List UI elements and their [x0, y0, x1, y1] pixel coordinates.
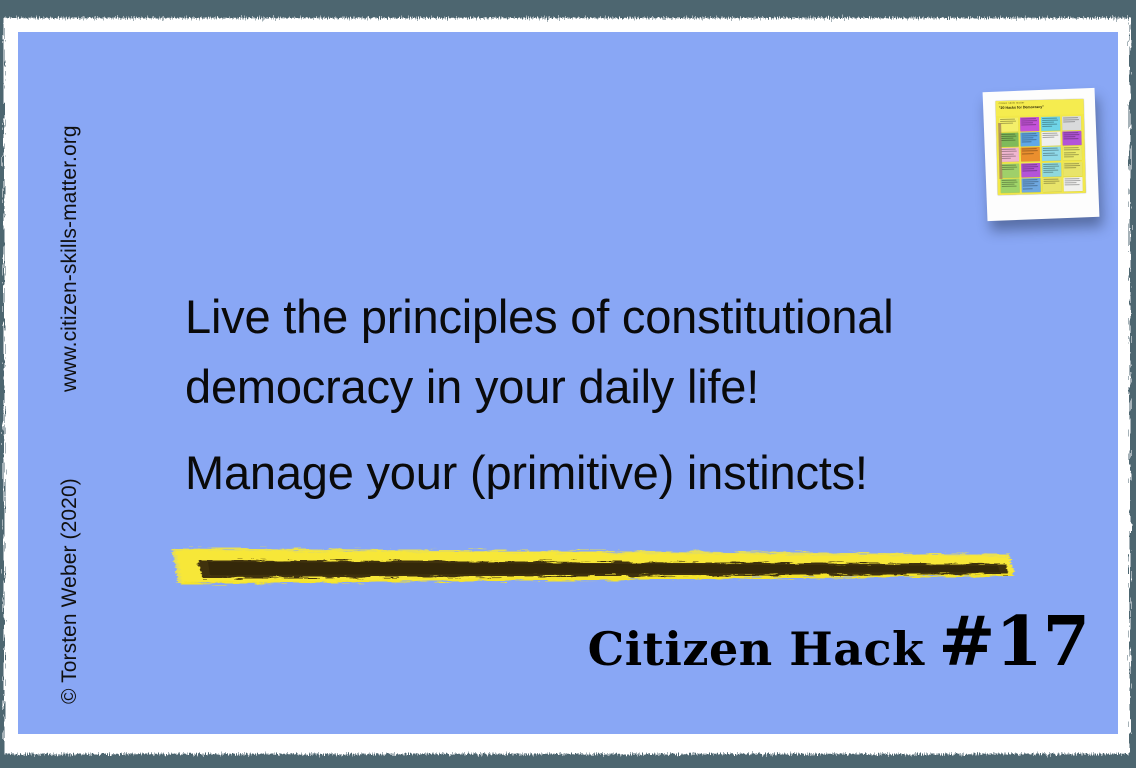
sticky-note	[1063, 162, 1083, 176]
sticky-note	[1042, 178, 1062, 192]
poster-thumbnail-card[interactable]: citizen skills matter "20 Hacks for Demo…	[983, 88, 1100, 221]
sticky-note	[1021, 178, 1041, 192]
sticky-note	[1000, 163, 1020, 177]
headline-number: #17	[938, 602, 1090, 682]
message-block: Live the principles of constitutional de…	[185, 282, 1005, 508]
sticky-note	[999, 117, 1019, 131]
message-line-3: Manage your (primitive) instincts!	[185, 438, 1005, 508]
credits-column: www.citizen-skills-matter.org © Torsten …	[18, 32, 80, 734]
sticky-note	[1021, 147, 1041, 161]
sticky-note	[1020, 132, 1040, 146]
sticky-note	[1041, 132, 1061, 146]
poster-image: citizen skills matter "20 Hacks for Demo…	[996, 99, 1086, 195]
sticky-note	[1042, 162, 1062, 176]
message-line-1: Live the principles of constitutional	[185, 282, 1005, 352]
sticky-note	[1000, 179, 1020, 193]
poster-sticky-grid	[996, 114, 1086, 195]
sticky-note	[1041, 116, 1061, 130]
slide-body: www.citizen-skills-matter.org © Torsten …	[18, 32, 1118, 734]
highlighter-stroke	[168, 528, 1016, 594]
website-credit: www.citizen-skills-matter.org	[58, 125, 82, 392]
sticky-note	[1021, 163, 1041, 177]
sticky-note	[1000, 148, 1020, 162]
author-credit: © Torsten Weber (2020)	[58, 478, 82, 704]
sticky-note	[1020, 117, 1040, 131]
message-line-2: democracy in your daily life!	[185, 352, 1005, 422]
sticky-note	[1062, 131, 1082, 145]
sticky-note	[1063, 177, 1083, 191]
sticky-note	[999, 133, 1019, 147]
sticky-note	[1062, 146, 1082, 160]
sticky-note	[1061, 116, 1081, 130]
highlighter-svg	[168, 528, 1016, 594]
slide-canvas: www.citizen-skills-matter.org © Torsten …	[0, 0, 1136, 768]
headline-label: Citizen Hack	[588, 622, 925, 676]
poster-header-line-2: "20 Hacks for Democracy"	[999, 104, 1081, 110]
sticky-note	[1041, 147, 1061, 161]
headline: Citizen Hack #17	[588, 602, 1090, 682]
